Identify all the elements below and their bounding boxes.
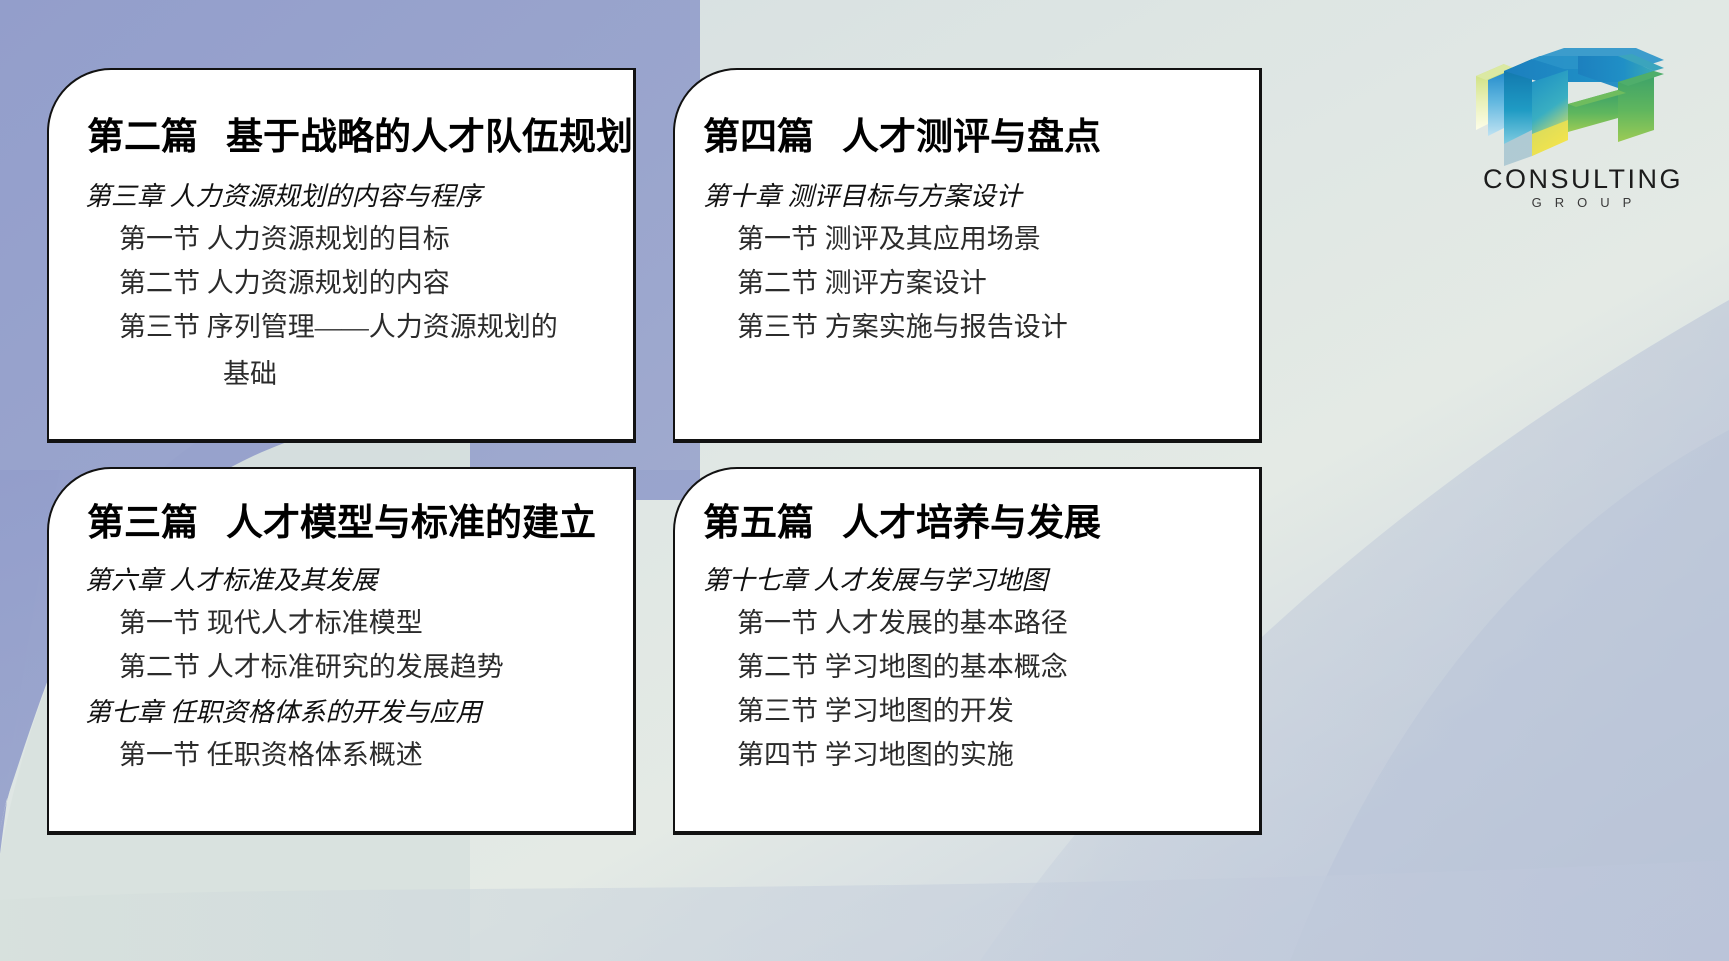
card-body: 第六章 人才标准及其发展 第一节 现代人才标准模型 第二节 人才标准研究的发展趋… <box>49 544 633 772</box>
list-item: 第一节 任职资格体系概述 <box>85 733 633 772</box>
list-item: 第四节 学习地图的实施 <box>703 733 1259 772</box>
card-part-title: 基于战略的人才队伍规划 <box>226 117 633 158</box>
list-item: 第三节 方案实施与报告设计 <box>703 305 1259 344</box>
list-item: 第二节 人力资源规划的内容 <box>85 261 633 300</box>
card-title: 第四篇人才测评与盘点 <box>675 70 1259 158</box>
content-card-part-2[interactable]: 第二篇基于战略的人才队伍规划 第三章 人力资源规划的内容与程序 第一节 人力资源… <box>47 68 636 443</box>
card-body: 第三章 人力资源规划的内容与程序 第一节 人力资源规划的目标 第二节 人力资源规… <box>49 158 633 391</box>
chapter-label: 第十七章 人才发展与学习地图 <box>703 560 1259 597</box>
card-title: 第五篇人才培养与发展 <box>675 469 1259 544</box>
chapter-label: 第六章 人才标准及其发展 <box>85 560 633 597</box>
section-list: 第一节 人力资源规划的目标 第二节 人力资源规划的内容 第三节 序列管理——人力… <box>85 217 633 344</box>
section-list: 第一节 测评及其应用场景 第二节 测评方案设计 第三节 方案实施与报告设计 <box>703 217 1259 344</box>
section-list: 第一节 人才发展的基本路径 第二节 学习地图的基本概念 第三节 学习地图的开发 … <box>703 601 1259 772</box>
card-title: 第二篇基于战略的人才队伍规划 <box>49 70 633 158</box>
list-item: 第一节 现代人才标准模型 <box>85 601 633 640</box>
list-item: 第三节 序列管理——人力资源规划的 <box>85 305 633 344</box>
chapter-label: 第十章 测评目标与方案设计 <box>703 176 1259 213</box>
card-body: 第十章 测评目标与方案设计 第一节 测评及其应用场景 第二节 测评方案设计 第三… <box>675 158 1259 344</box>
card-part-title: 人才培养与发展 <box>842 503 1101 544</box>
content-card-part-5[interactable]: 第五篇人才培养与发展 第十七章 人才发展与学习地图 第一节 人才发展的基本路径 … <box>673 467 1262 835</box>
chapter-label: 第三章 人力资源规划的内容与程序 <box>85 176 633 213</box>
chapter-label: 第七章 任职资格体系的开发与应用 <box>85 692 633 729</box>
content-card-part-3[interactable]: 第三篇人才模型与标准的建立 第六章 人才标准及其发展 第一节 现代人才标准模型 … <box>47 467 636 835</box>
card-part-number: 第五篇 <box>703 503 814 544</box>
continuation-text: 基础 <box>223 359 277 389</box>
slide-canvas: 第二篇基于战略的人才队伍规划 第三章 人力资源规划的内容与程序 第一节 人力资源… <box>0 0 1729 961</box>
card-part-title: 人才模型与标准的建立 <box>226 503 596 544</box>
cube-blocks-icon <box>1468 38 1698 166</box>
list-item: 第一节 人力资源规划的目标 <box>85 217 633 256</box>
content-card-part-4[interactable]: 第四篇人才测评与盘点 第十章 测评目标与方案设计 第一节 测评及其应用场景 第二… <box>673 68 1262 443</box>
card-body: 第十七章 人才发展与学习地图 第一节 人才发展的基本路径 第二节 学习地图的基本… <box>675 544 1259 772</box>
card-part-title: 人才测评与盘点 <box>842 117 1101 158</box>
list-item: 第二节 人才标准研究的发展趋势 <box>85 645 633 684</box>
list-item: 第二节 学习地图的基本概念 <box>703 645 1259 684</box>
section-continuation: 基础 <box>85 352 633 391</box>
company-logo[interactable]: CONSULTING GROUP <box>1468 38 1698 223</box>
section-list: 第一节 现代人才标准模型 第二节 人才标准研究的发展趋势 <box>85 601 633 684</box>
card-part-number: 第四篇 <box>703 117 814 158</box>
list-item: 第一节 人才发展的基本路径 <box>703 601 1259 640</box>
logo-subwordmark: GROUP <box>1468 196 1698 209</box>
list-item: 第三节 学习地图的开发 <box>703 689 1259 728</box>
list-item: 第二节 测评方案设计 <box>703 261 1259 300</box>
card-title: 第三篇人才模型与标准的建立 <box>49 469 633 544</box>
card-part-number: 第二篇 <box>87 117 198 158</box>
card-part-number: 第三篇 <box>87 503 198 544</box>
logo-wordmark: CONSULTING <box>1468 166 1698 193</box>
section-list: 第一节 任职资格体系概述 <box>85 733 633 772</box>
list-item: 第一节 测评及其应用场景 <box>703 217 1259 256</box>
